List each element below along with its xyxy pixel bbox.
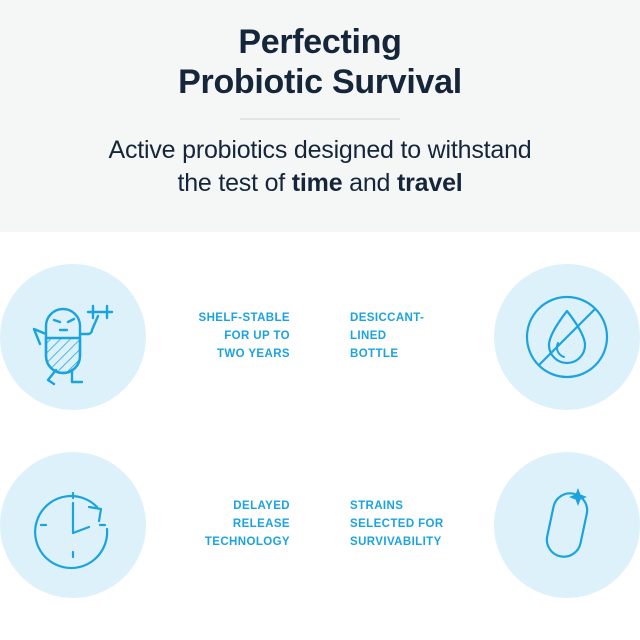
label-line: FOR UP TO — [146, 328, 290, 346]
subtitle-text-b: and — [342, 169, 397, 197]
subtitle-emphasis-time: time — [292, 169, 343, 197]
feature-icon-circle — [494, 264, 640, 410]
label-line: LINED — [350, 328, 494, 346]
feature-label-delayed-release: DELAYED RELEASE TECHNOLOGY — [146, 498, 306, 551]
starred-capsule-icon — [519, 477, 615, 573]
title-divider — [240, 118, 400, 120]
page-subtitle-line-2: the test of time and travel — [109, 167, 532, 200]
feature-icon-circle — [0, 452, 146, 598]
capsule-weightlifter-icon — [18, 282, 128, 392]
subtitle-emphasis-travel: travel — [397, 169, 463, 197]
label-line: SELECTED FOR — [350, 516, 494, 534]
label-line: TECHNOLOGY — [146, 534, 290, 552]
no-water-drop-icon — [519, 289, 615, 385]
feature-grid: SHELF-STABLE FOR UP TO TWO YEARS DESICCA… — [0, 232, 640, 640]
feature-desiccant-lined-bottle: DESICCANT- LINED BOTTLE — [320, 262, 640, 412]
label-line: TWO YEARS — [146, 346, 290, 364]
feature-icon-circle — [494, 452, 640, 598]
feature-label-desiccant-lined-bottle: DESICCANT- LINED BOTTLE — [334, 310, 494, 363]
page-title-line-2: Probiotic Survival — [178, 62, 462, 102]
feature-shelf-stable: SHELF-STABLE FOR UP TO TWO YEARS — [0, 262, 320, 412]
header-banner: Perfecting Probiotic Survival Active pro… — [0, 0, 640, 232]
page-title-line-1: Perfecting — [178, 22, 462, 62]
page-title: Perfecting Probiotic Survival — [178, 22, 462, 102]
label-line: STRAINS — [350, 498, 494, 516]
label-line: SHELF-STABLE — [146, 310, 290, 328]
feature-strain-survivability: STRAINS SELECTED FOR SURVIVABILITY — [320, 450, 640, 600]
label-line: DESICCANT- — [350, 310, 494, 328]
feature-label-shelf-stable: SHELF-STABLE FOR UP TO TWO YEARS — [146, 310, 306, 363]
subtitle-text-a: the test of — [177, 169, 291, 197]
feature-icon-circle — [0, 264, 146, 410]
page-subtitle: Active probiotics designed to withstand … — [109, 134, 532, 199]
label-line: RELEASE — [146, 516, 290, 534]
delayed-clock-icon — [25, 477, 121, 573]
label-line: SURVIVABILITY — [350, 534, 494, 552]
label-line: BOTTLE — [350, 346, 494, 364]
feature-label-strain-survivability: STRAINS SELECTED FOR SURVIVABILITY — [334, 498, 494, 551]
label-line: DELAYED — [146, 498, 290, 516]
feature-delayed-release: DELAYED RELEASE TECHNOLOGY — [0, 450, 320, 600]
page-subtitle-line-1: Active probiotics designed to withstand — [109, 134, 532, 167]
